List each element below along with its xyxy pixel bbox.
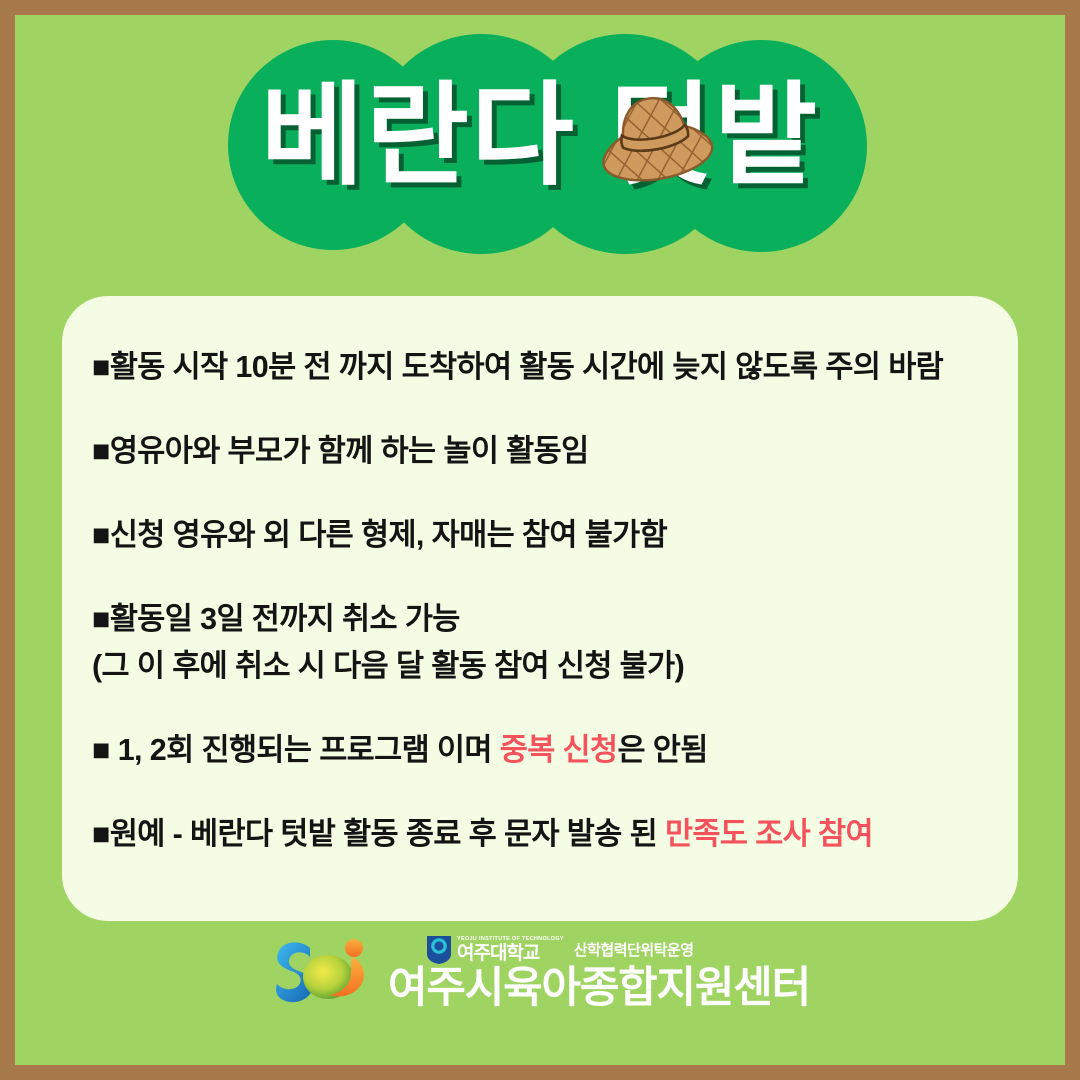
- university-name-ko: 여주대학교: [457, 944, 564, 963]
- note-text: ■신청 영유와 외 다른 형제, 자매는 참여 불가함: [92, 518, 667, 552]
- page-title: 베란다 텃밭: [15, 80, 1065, 192]
- note-line: ■ 1, 2회 진행되는 프로그램 이며 중복 신청은 안됨: [92, 733, 708, 767]
- center-name: 여주시육아종합지원센터: [388, 966, 810, 1011]
- note-text: ■영유아와 부모가 함께 하는 놀이 활동임: [92, 434, 589, 468]
- operator-label: 산학협력단위탁운영: [574, 939, 694, 960]
- note-text: ■원예 - 베란다 텃밭 활동 종료 후 문자 발송 된: [92, 817, 665, 851]
- note-no-duplicate-application: ■ 1, 2회 진행되는 프로그램 이며 중복 신청은 안됨: [92, 731, 992, 770]
- poster-canvas: 베란다 텃밭: [15, 15, 1065, 1065]
- highlighted-text: 만족도 조사 참여: [665, 817, 873, 851]
- notice-card: ■활동 시작 10분 전 까지 도착하여 활동 시간에 늦지 않도록 주의 바람…: [62, 296, 1018, 921]
- note-satisfaction-survey: ■원예 - 베란다 텃밭 활동 종료 후 문자 발송 된 만족도 조사 참여: [92, 815, 992, 854]
- note-line: ■신청 영유와 외 다른 형제, 자매는 참여 불가함: [92, 518, 667, 552]
- note-text: 은 안됨: [617, 733, 707, 767]
- note-text: ■활동 시작 10분 전 까지 도착하여 활동 시간에 늦지 않도록 주의 바람: [92, 350, 943, 384]
- university-credit: YEOJU INSTITUTE OF TECHNOLOGY 여주대학교 산학협력…: [426, 935, 694, 965]
- footer-text-block: YEOJU INSTITUTE OF TECHNOLOGY 여주대학교 산학협력…: [388, 935, 810, 1011]
- note-line: ■활동 시작 10분 전 까지 도착하여 활동 시간에 늦지 않도록 주의 바람: [92, 350, 943, 384]
- sco-swoosh-logo-icon: [270, 935, 382, 1009]
- highlighted-text: 중복 신청: [500, 733, 618, 767]
- poster-footer: YEOJU INSTITUTE OF TECHNOLOGY 여주대학교 산학협력…: [15, 935, 1065, 1053]
- note-line: ■활동일 3일 전까지 취소 가능: [92, 602, 460, 636]
- poster-header: 베란다 텃밭: [15, 32, 1065, 267]
- note-cancellation-policy: ■활동일 3일 전까지 취소 가능(그 이 후에 취소 시 다음 달 활동 참여…: [92, 600, 992, 686]
- poster-root: 베란다 텃밭: [0, 0, 1080, 1080]
- note-text: (그 이 후에 취소 시 다음 달 활동 참여 신청 불가): [92, 649, 684, 683]
- note-line: ■영유아와 부모가 함께 하는 놀이 활동임: [92, 434, 589, 468]
- university-name-en: YEOJU INSTITUTE OF TECHNOLOGY: [457, 937, 564, 943]
- note-siblings-not-allowed: ■신청 영유와 외 다른 형제, 자매는 참여 불가함: [92, 516, 992, 555]
- note-line: (그 이 후에 취소 시 다음 달 활동 참여 신청 불가): [92, 647, 992, 686]
- note-line: ■원예 - 베란다 텃밭 활동 종료 후 문자 발송 된 만족도 조사 참여: [92, 817, 873, 851]
- note-parent-child-activity: ■영유아와 부모가 함께 하는 놀이 활동임: [92, 432, 992, 471]
- note-arrival-time: ■활동 시작 10분 전 까지 도착하여 활동 시간에 늦지 않도록 주의 바람: [92, 348, 992, 387]
- note-text: ■활동일 3일 전까지 취소 가능: [92, 602, 460, 636]
- yeoju-university-shield-icon: [426, 935, 452, 965]
- note-text: ■ 1, 2회 진행되는 프로그램 이며: [92, 733, 500, 767]
